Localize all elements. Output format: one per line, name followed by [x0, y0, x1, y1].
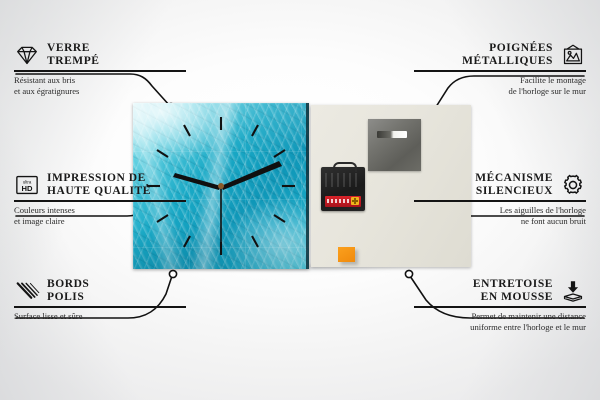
feature-mecanisme-silencieux: MÉCANISME SILENCIEUX Les aiguilles de l'…	[414, 172, 586, 226]
feature-subtitle: Facilite le montage de l'horloge sur le …	[414, 75, 586, 96]
feature-rule	[414, 200, 586, 202]
feature-title: IMPRESSION DE HAUTE QUALITÉ	[47, 172, 151, 197]
feature-title: POIGNÉES MÉTALLIQUES	[462, 42, 553, 67]
feature-subtitle: Surface lisse et sûre	[14, 311, 186, 321]
mechanism-hook	[333, 162, 357, 172]
diamond-icon	[14, 44, 40, 66]
clock-mechanism	[321, 167, 365, 211]
battery-plus-terminal	[351, 197, 359, 205]
feature-verre-trempe: VERRE TREMPÉ Résistant aux bris et aux é…	[14, 42, 186, 96]
feature-rule	[414, 70, 586, 72]
hanger-slot	[377, 131, 407, 138]
feature-entretoise-en-mousse: ENTRETOISE EN MOUSSE Permet de maintenir…	[414, 278, 586, 332]
feature-rule	[14, 200, 186, 202]
feature-title: MÉCANISME SILENCIEUX	[475, 172, 553, 197]
polished-edges-icon	[14, 280, 40, 302]
svg-text:HD: HD	[22, 184, 33, 193]
metal-hanger-plate	[368, 119, 421, 171]
feature-subtitle: Les aiguilles de l'horloge ne font aucun…	[414, 205, 586, 226]
picture-hanger-icon	[560, 44, 586, 66]
feature-subtitle: Résistant aux bris et aux égratignures	[14, 75, 186, 96]
foam-spacer	[338, 247, 355, 262]
feature-subtitle: Couleurs intenses et image claire	[14, 205, 186, 226]
feature-title: VERRE TREMPÉ	[47, 42, 100, 67]
ultra-hd-icon: ultra HD	[14, 174, 40, 196]
feature-rule	[414, 306, 586, 308]
feature-rule	[14, 306, 186, 308]
mechanism-ridges	[325, 173, 361, 187]
gear-icon	[560, 174, 586, 196]
feature-title: ENTRETOISE EN MOUSSE	[473, 278, 553, 303]
clock-center-cap	[218, 183, 224, 189]
battery	[325, 196, 361, 207]
feature-rule	[14, 70, 186, 72]
feature-subtitle: Permet de maintenir une distance uniform…	[414, 311, 586, 332]
foam-spacer-icon	[560, 280, 586, 302]
feature-title: BORDS POLIS	[47, 278, 89, 303]
feature-bords-polis: BORDS POLIS Surface lisse et sûre	[14, 278, 186, 322]
minute-hand	[221, 161, 282, 190]
feature-poignees-metalliques: POIGNÉES MÉTALLIQUES Facilite le montage…	[414, 42, 586, 96]
infographic-canvas: VERRE TREMPÉ Résistant aux bris et aux é…	[0, 0, 600, 400]
feature-impression-haute-qualite: ultra HD IMPRESSION DE HAUTE QUALITÉ Cou…	[14, 172, 186, 226]
